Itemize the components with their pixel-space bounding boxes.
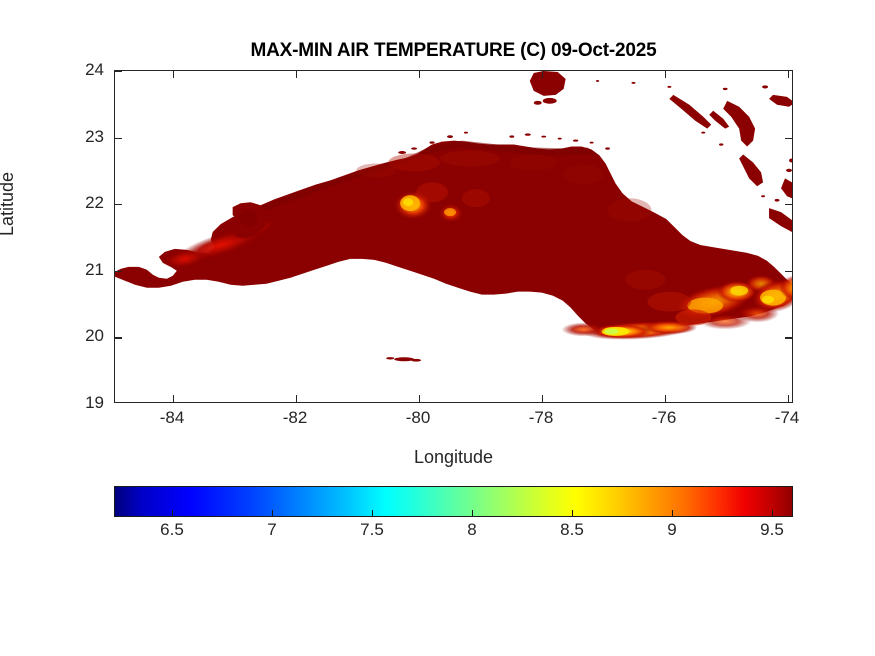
x-axis-label: Longitude bbox=[114, 447, 793, 468]
temperature-heatmap bbox=[115, 71, 792, 402]
colorbar[interactable]: 6.5 7 7.5 8 8.5 9 9.5 bbox=[114, 486, 793, 517]
xtick-mark bbox=[542, 395, 543, 402]
ytick-label: 19 bbox=[78, 393, 104, 413]
y-axis-label: Latitude bbox=[0, 172, 18, 236]
ytick-mark-right bbox=[785, 337, 792, 338]
ytick-mark-right bbox=[785, 204, 792, 205]
colorbar-tick bbox=[772, 510, 773, 517]
colorbar-tick bbox=[672, 510, 673, 517]
colorbar-tick bbox=[472, 510, 473, 517]
colorbar-gradient bbox=[114, 486, 793, 517]
colorbar-tick-label: 8 bbox=[467, 520, 476, 540]
xtick-label: -76 bbox=[652, 408, 677, 428]
ytick-mark-right bbox=[785, 271, 792, 272]
colorbar-tick-label: 9 bbox=[667, 520, 676, 540]
xtick-mark bbox=[419, 395, 420, 402]
colorbar-tick bbox=[172, 510, 173, 517]
ytick-label: 23 bbox=[78, 127, 104, 147]
ytick-label: 20 bbox=[78, 326, 104, 346]
colorbar-tick-label: 7 bbox=[267, 520, 276, 540]
xtick-mark-top bbox=[296, 71, 297, 78]
ytick-label: 21 bbox=[78, 260, 104, 280]
xtick-mark bbox=[296, 395, 297, 402]
xtick-mark bbox=[788, 395, 789, 402]
outlying-land-fragments bbox=[386, 357, 421, 362]
xtick-label: -80 bbox=[406, 408, 431, 428]
map-axes[interactable] bbox=[114, 70, 793, 403]
colorbar-tick-label: 6.5 bbox=[160, 520, 184, 540]
ytick-label: 22 bbox=[78, 193, 104, 213]
colorbar-tick-label: 7.5 bbox=[360, 520, 384, 540]
xtick-mark-top bbox=[665, 71, 666, 78]
xtick-label: -74 bbox=[775, 408, 800, 428]
xtick-mark bbox=[173, 395, 174, 402]
xtick-mark-top bbox=[173, 71, 174, 78]
ytick-mark bbox=[115, 138, 122, 139]
ytick-mark bbox=[115, 337, 122, 338]
colorbar-tick-label: 8.5 bbox=[560, 520, 584, 540]
xtick-mark-top bbox=[542, 71, 543, 78]
colorbar-tick bbox=[372, 510, 373, 517]
ytick-mark-right bbox=[785, 138, 792, 139]
colorbar-tick bbox=[572, 510, 573, 517]
ytick-mark bbox=[115, 204, 122, 205]
figure-canvas: MAX-MIN AIR TEMPERATURE (C) 09-Oct-2025 bbox=[0, 0, 875, 656]
ytick-label: 24 bbox=[78, 60, 104, 80]
page-title: MAX-MIN AIR TEMPERATURE (C) 09-Oct-2025 bbox=[114, 40, 793, 62]
colorbar-tick bbox=[272, 510, 273, 517]
xtick-mark-top bbox=[419, 71, 420, 78]
ytick-mark bbox=[115, 71, 122, 72]
xtick-mark-top bbox=[788, 71, 789, 78]
xtick-label: -78 bbox=[529, 408, 554, 428]
xtick-label: -84 bbox=[160, 408, 185, 428]
colorbar-tick-label: 9.5 bbox=[760, 520, 784, 540]
xtick-mark bbox=[665, 395, 666, 402]
xtick-label: -82 bbox=[283, 408, 308, 428]
ytick-mark bbox=[115, 271, 122, 272]
